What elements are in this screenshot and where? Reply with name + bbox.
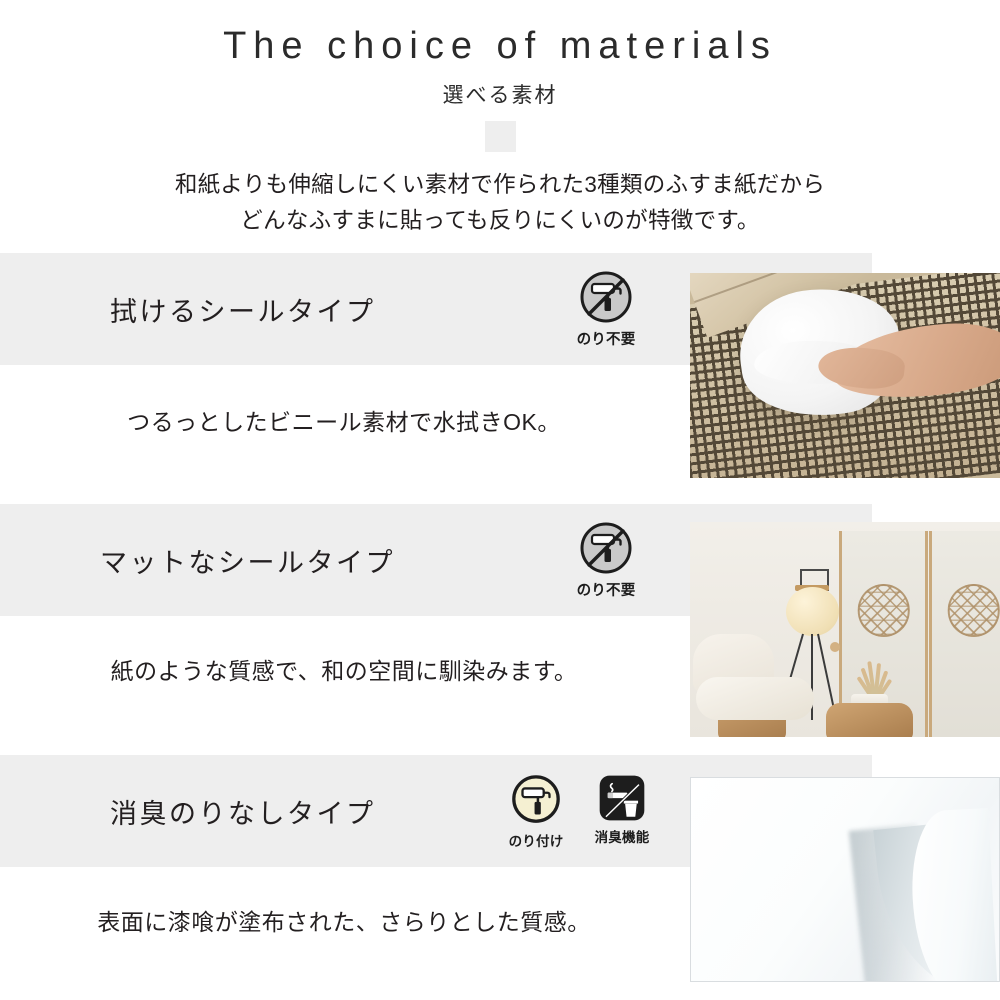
section-3-title: 消臭のりなしタイプ (110, 792, 376, 831)
paper-lantern-shade (786, 587, 839, 636)
material-section-2: マットなシールタイプ のり不要 紙のような質感で、和の空間に馴染みます。 (0, 504, 1000, 744)
page-root: The choice of materials 選べる素材 和紙よりも伸縮しにく… (0, 0, 1000, 1000)
chair-seat (696, 677, 814, 720)
fusuma-panel-2 (929, 531, 1000, 737)
decorative-square (485, 121, 516, 152)
badge-deodorize-label: 消臭機能 (595, 826, 650, 846)
lead-line-2: どんなふすまに貼っても反りにくいのが特徴です。 (0, 203, 1000, 239)
badge-no-glue: のり不要 (570, 269, 642, 349)
section-2-description: 紙のような質感で、和の空間に馴染みます。 (0, 652, 688, 686)
badge-no-glue-label: のり不要 (577, 579, 636, 600)
no-glue-roller-icon (578, 520, 634, 576)
section-3-badges: のり付け 消臭機能 (500, 773, 658, 850)
photo-japanese-interior-fusuma (690, 522, 1000, 737)
section-1-title: 拭けるシールタイプ (110, 290, 376, 329)
section-3-band-content: 消臭のりなしタイプ のり付け (0, 755, 688, 867)
section-1-description: つるっとしたビニール素材で水拭きOK。 (0, 403, 688, 437)
lead-paragraph: 和紙よりも伸縮しにくい素材で作られた3種類のふすま紙だから どんなふすまに貼って… (0, 167, 1000, 240)
section-2-badges: のり不要 (570, 520, 642, 600)
lead-line-1: 和紙よりも伸縮しにくい素材で作られた3種類のふすま紙だから (0, 167, 1000, 203)
circular-lattice-pattern (857, 584, 910, 637)
badge-glue-included: のり付け (500, 773, 572, 850)
page-title-japanese: 選べる素材 (0, 79, 1000, 109)
section-2-title: マットなシールタイプ (100, 541, 395, 580)
circular-lattice-pattern (947, 584, 1000, 637)
page-header: The choice of materials 選べる素材 和紙よりも伸縮しにく… (0, 0, 1000, 240)
photo-white-paper-curl (690, 777, 1000, 982)
page-title-english: The choice of materials (0, 27, 1000, 65)
badge-deodorize: 消臭機能 (586, 773, 658, 846)
section-1-badges: のり不要 (570, 269, 642, 349)
section-2-band-content: マットなシールタイプ のり不要 (0, 504, 688, 616)
no-glue-roller-icon (578, 269, 634, 325)
material-section-1: 拭けるシールタイプ のり不要 つるっとしたビニール素材で水拭きOK。 (0, 253, 1000, 493)
badge-no-glue-label: のり不要 (577, 328, 636, 349)
deodorize-icon (597, 773, 647, 823)
glue-roller-icon (509, 773, 563, 827)
badge-glue-label: のり付け (509, 830, 564, 850)
section-1-band-content: 拭けるシールタイプ のり不要 (0, 253, 688, 365)
wood-stool (826, 703, 913, 737)
section-3-description: 表面に漆喰が塗布された、さらりとした質感。 (0, 903, 688, 937)
badge-no-glue: のり不要 (570, 520, 642, 600)
photo-wiping-towel-on-woven-mat (690, 273, 1000, 478)
material-section-3: 消臭のりなしタイプ のり付け (0, 755, 1000, 1000)
